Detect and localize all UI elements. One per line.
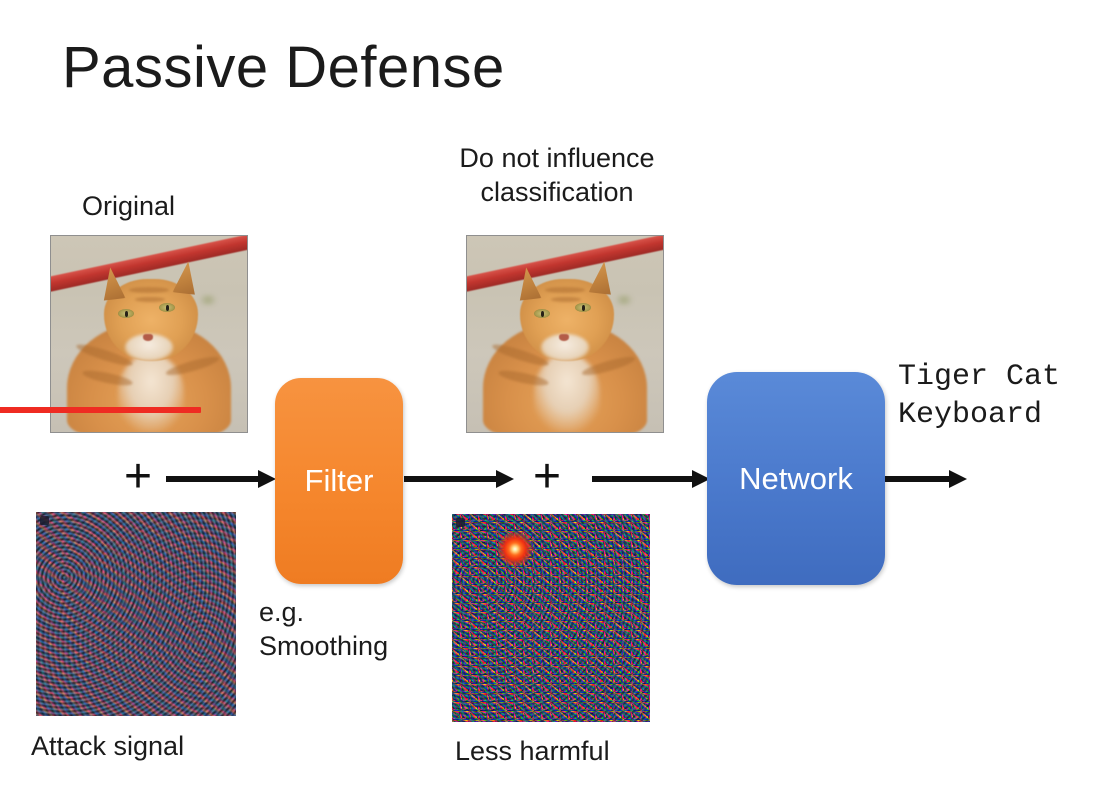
cat-photo-filtered — [467, 236, 663, 432]
label-original: Original — [82, 190, 175, 224]
image-less-harmful-signal — [452, 514, 650, 722]
noise-corner-artifact — [456, 518, 465, 527]
page-title: Passive Defense — [62, 36, 505, 100]
figure-original-image: 0 25 50 75 100 125 150 175 200 0 50 100 … — [18, 232, 248, 450]
strikethrough-line — [0, 407, 201, 413]
arrow-to-filter — [166, 467, 276, 491]
axes-original: 0 25 50 75 100 125 150 175 200 0 50 100 … — [50, 235, 248, 433]
output-accepted-label: Tiger Cat — [898, 358, 1110, 396]
cat-photo-original — [51, 236, 247, 432]
label-attack-signal: Attack signal — [31, 730, 184, 764]
red-hotspot-marker — [498, 532, 532, 566]
arrow-to-output — [885, 467, 967, 491]
label-eg-smoothing: e.g. Smoothing — [259, 596, 388, 664]
classification-output: Tiger Cat Keyboard — [898, 358, 1110, 435]
plus-operator-left: + — [124, 453, 152, 501]
arrow-to-network — [592, 467, 710, 491]
axes-filtered: 0 25 50 75 100 125 150 175 200 0 50 100 … — [466, 235, 664, 433]
label-do-not-influence-classification: Do not influence classification — [424, 142, 690, 210]
filter-box[interactable]: Filter — [275, 378, 403, 584]
slide-canvas: Passive Defense Original — [0, 0, 1112, 800]
network-box[interactable]: Network — [707, 372, 885, 585]
plus-operator-right: + — [533, 453, 561, 501]
label-less-harmful: Less harmful — [455, 735, 610, 769]
output-rejected-label: Keyboard — [898, 396, 1110, 434]
noise-corner-artifact — [40, 516, 49, 525]
arrow-from-filter — [404, 467, 514, 491]
filter-box-label: Filter — [305, 463, 374, 499]
figure-filtered-image: 0 25 50 75 100 125 150 175 200 0 50 100 … — [434, 232, 664, 450]
network-box-label: Network — [739, 461, 853, 497]
image-attack-signal — [36, 512, 236, 716]
